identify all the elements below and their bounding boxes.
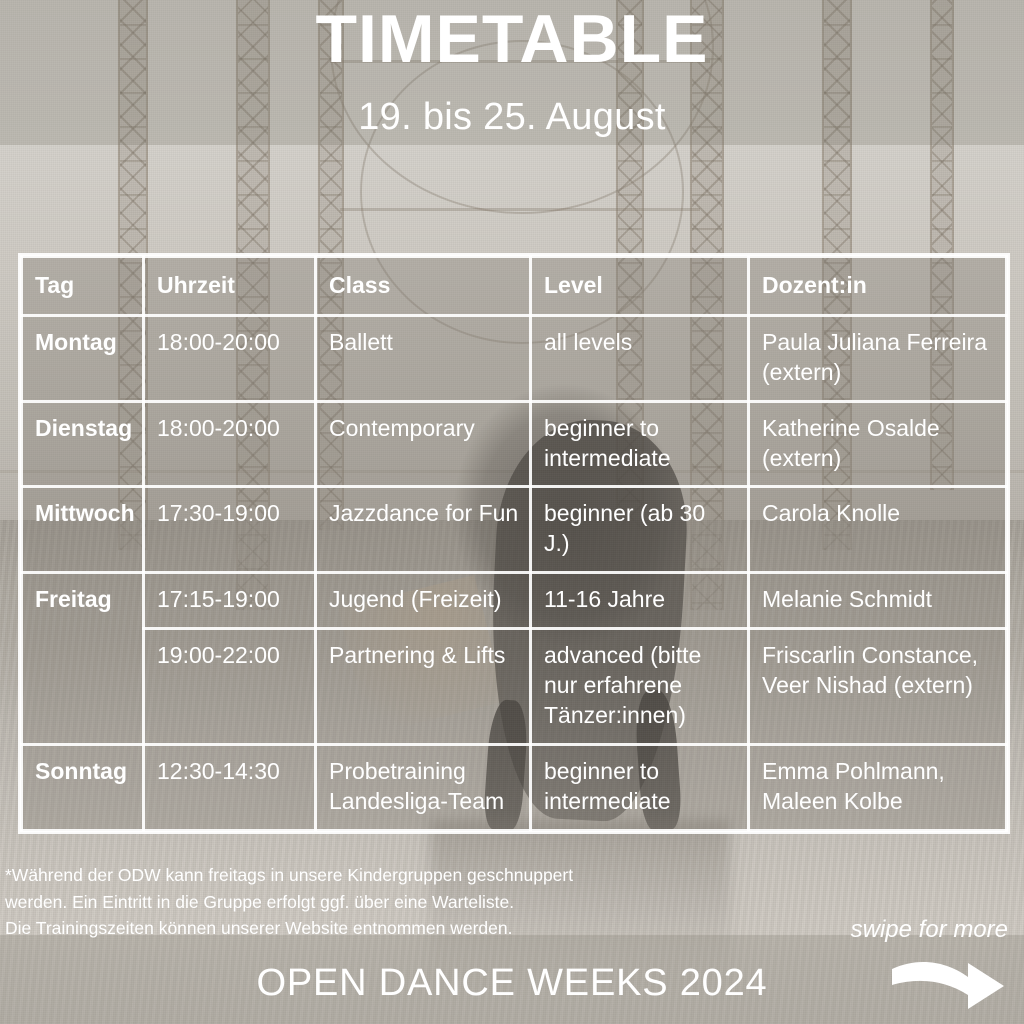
cell-day: Mittwoch	[22, 487, 144, 573]
cell-time: 17:15-19:00	[144, 573, 316, 629]
cell-time: 18:00-20:00	[144, 401, 316, 487]
cell-day: Sonntag	[22, 744, 144, 830]
bridge-rail	[340, 208, 700, 211]
column-header-level: Level	[531, 257, 749, 316]
cell-day: Freitag	[22, 573, 144, 745]
column-header-dozent: Dozent:in	[749, 257, 1007, 316]
table-row: 19:00-22:00 Partnering & Lifts advanced …	[22, 629, 1007, 745]
cell-class: Contemporary	[316, 401, 531, 487]
cell-teacher: Katherine Osalde (extern)	[749, 401, 1007, 487]
page-title: TIMETABLE	[0, 4, 1024, 75]
cell-teacher: Emma Pohlmann, Maleen Kolbe	[749, 744, 1007, 830]
footnote-line-1: *Während der ODW kann freitags in unsere…	[5, 862, 645, 889]
footnote-line-3: Die Trainingszeiten können unserer Websi…	[5, 915, 645, 942]
cell-class: Ballett	[316, 315, 531, 401]
cell-class: Jazzdance for Fun	[316, 487, 531, 573]
table-row: Montag 18:00-20:00 Ballett all levels Pa…	[22, 315, 1007, 401]
swipe-hint-label: swipe for more	[851, 916, 1008, 944]
cell-level: beginner to intermediate	[531, 401, 749, 487]
cell-day: Dienstag	[22, 401, 144, 487]
cell-teacher: Friscarlin Constance, Veer Nishad (exter…	[749, 629, 1007, 745]
column-header-class: Class	[316, 257, 531, 316]
cell-level: beginner to intermediate	[531, 744, 749, 830]
cell-time: 17:30-19:00	[144, 487, 316, 573]
table-header-row: Tag Uhrzeit Class Level Dozent:in	[22, 257, 1007, 316]
cell-level: beginner (ab 30 J.)	[531, 487, 749, 573]
cell-level: 11-16 Jahre	[531, 573, 749, 629]
cell-teacher: Melanie Schmidt	[749, 573, 1007, 629]
column-header-uhrzeit: Uhrzeit	[144, 257, 316, 316]
timetable-poster: TIMETABLE 19. bis 25. August Tag Uhrzeit…	[0, 0, 1024, 1024]
cell-teacher: Paula Juliana Ferreira (extern)	[749, 315, 1007, 401]
cell-time: 19:00-22:00	[144, 629, 316, 745]
footnote: *Während der ODW kann freitags in unsere…	[5, 862, 645, 942]
timetable: Tag Uhrzeit Class Level Dozent:in Montag…	[20, 255, 1008, 832]
cell-level: advanced (bitte nur erfahrene Tänzer:inn…	[531, 629, 749, 745]
bottom-title: OPEN DANCE WEEKS 2024	[0, 962, 1024, 1005]
timetable-container: Tag Uhrzeit Class Level Dozent:in Montag…	[20, 255, 1005, 832]
table-row: Mittwoch 17:30-19:00 Jazzdance for Fun b…	[22, 487, 1007, 573]
table-row: Freitag 17:15-19:00 Jugend (Freizeit) 11…	[22, 573, 1007, 629]
cell-day: Montag	[22, 315, 144, 401]
table-row: Sonntag 12:30-14:30 Probetraining Landes…	[22, 744, 1007, 830]
footnote-line-2: werden. Ein Eintritt in die Gruppe erfol…	[5, 889, 645, 916]
column-header-tag: Tag	[22, 257, 144, 316]
cell-time: 12:30-14:30	[144, 744, 316, 830]
cell-class: Probetraining Landesliga-Team	[316, 744, 531, 830]
date-range-subtitle: 19. bis 25. August	[0, 96, 1024, 139]
cell-time: 18:00-20:00	[144, 315, 316, 401]
table-row: Dienstag 18:00-20:00 Contemporary beginn…	[22, 401, 1007, 487]
cell-teacher: Carola Knolle	[749, 487, 1007, 573]
cell-level: all levels	[531, 315, 749, 401]
cell-class: Partnering & Lifts	[316, 629, 531, 745]
cell-class: Jugend (Freizeit)	[316, 573, 531, 629]
